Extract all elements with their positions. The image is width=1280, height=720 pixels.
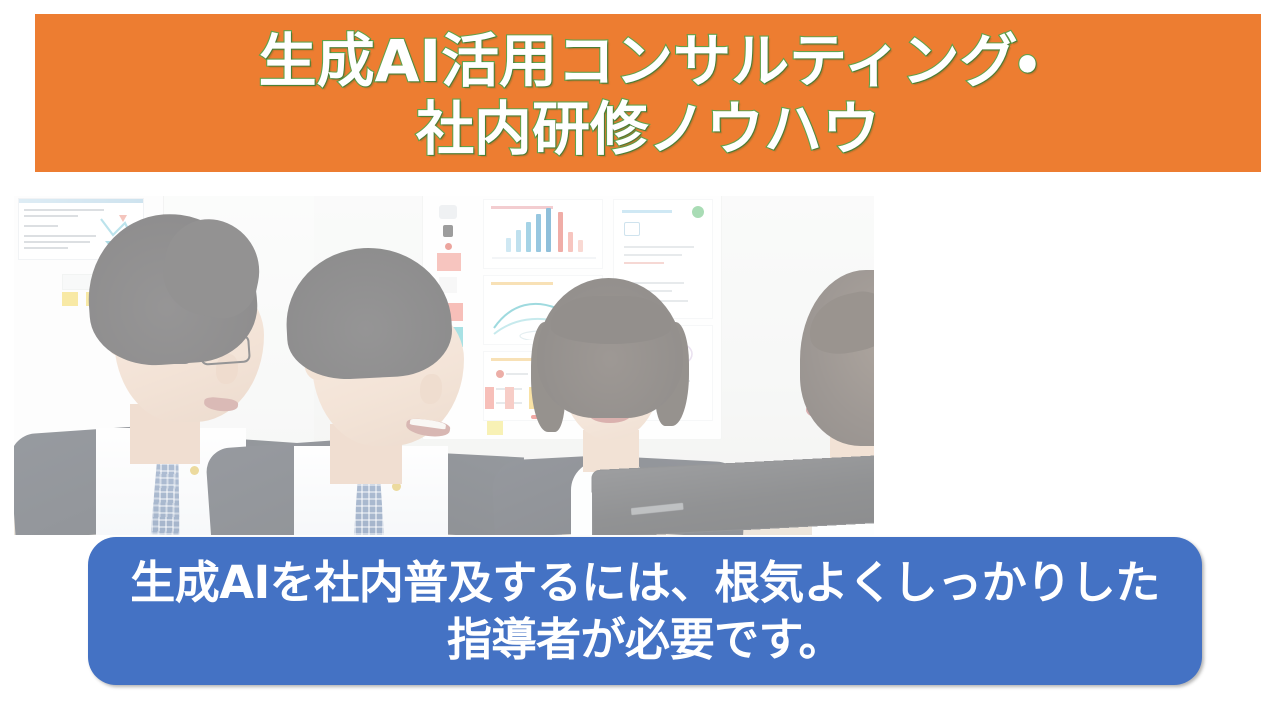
magnet-grey [439,205,457,219]
person-man-second [250,248,500,535]
notes-line [624,262,664,264]
chart-sheet-bar [483,199,603,269]
bar [526,222,531,252]
lapel-pin [190,466,199,475]
hair [283,244,455,382]
slide: 生成AI活用コンサルティング・ 社内研修ノウハウ [0,0,1280,720]
notes-icon [624,222,640,236]
caption-box: 生成AIを社内普及するには、根気よくしっかりした 指導者が必要です。 [88,537,1202,685]
status-dot-green [692,206,704,218]
sheet-title-bar [491,206,553,209]
meeting-photo [14,196,874,535]
title-banner: 生成AI活用コンサルティング・ 社内研修ノウハウ [35,14,1261,172]
caption-line-2: 指導者が必要です。 [447,611,843,668]
poster-text-line [24,209,104,211]
caption-line-1: 生成AIを社内普及するには、根気よくしっかりした [130,554,1160,611]
bar [536,214,541,252]
nose [420,374,442,404]
title-line-2: 社内研修ノウハウ [416,95,880,163]
bar [578,240,583,252]
bangs [551,296,671,344]
magnet-dark [443,225,453,237]
laptop [592,462,874,535]
bar [506,238,511,252]
laptop-lid [591,455,874,535]
bar [546,208,551,252]
bar [558,212,563,252]
title-line-1: 生成AI活用コンサルティング・ [259,27,1038,95]
laptop-logo [631,503,684,515]
notes-line [624,254,682,256]
axis-line [492,257,596,259]
notes-heading [622,210,672,213]
bar [516,230,521,252]
poster-header-bar [19,199,143,203]
notes-line [624,246,694,248]
bar [568,232,573,252]
